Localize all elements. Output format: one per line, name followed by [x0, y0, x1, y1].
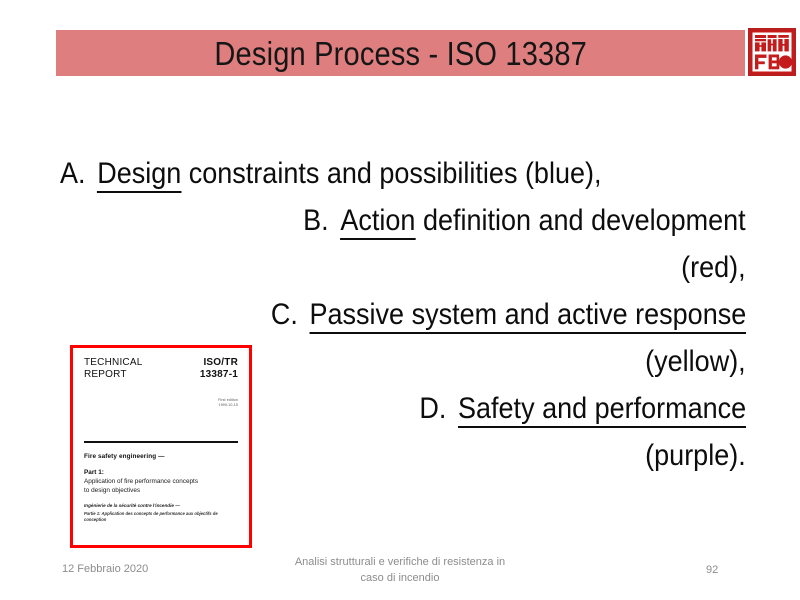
iso-doc-title: Fire safety engineering — — [84, 452, 238, 461]
iso-edition-block: First edition 1999-10-15 — [84, 398, 238, 407]
list-item: B.Action definition and development — [60, 197, 746, 244]
iso-edition-date: 1999-10-15 — [84, 403, 238, 408]
iso-standard-number: ISO/TR 13387-1 — [200, 357, 238, 381]
iso-doc-subtitle-french: Partie 1: Application des concepts de pe… — [84, 511, 238, 522]
iso-doc-type: TECHNICAL REPORT — [84, 357, 142, 381]
footer-date: 12 Febbraio 2020 — [62, 563, 148, 575]
list-item-continuation: (red), — [60, 244, 746, 291]
list-item-keyword: Design — [97, 157, 181, 193]
footer-course-line1: Analisi strutturali e verifiche di resis… — [262, 554, 538, 570]
list-marker: A. — [60, 157, 86, 190]
iso-document-cover-image: TECHNICAL REPORT ISO/TR 13387-1 First ed… — [70, 345, 252, 548]
list-marker: D. — [419, 392, 446, 425]
iso-doc-header: TECHNICAL REPORT ISO/TR 13387-1 — [84, 357, 238, 381]
iso-doc-part: Part 1: — [84, 468, 238, 477]
list-item-color-note: (yellow), — [645, 338, 746, 385]
fb-seal-logo-icon — [748, 28, 796, 76]
list-item-keyword: Action — [341, 204, 416, 240]
list-item-text: definition and development — [416, 204, 746, 237]
list-item-keyword: Passive system and active response — [309, 298, 746, 334]
footer-course-title: Analisi strutturali e verifiche di resis… — [262, 554, 538, 586]
iso-standard-code: 13387-1 — [200, 369, 238, 381]
iso-standard-prefix: ISO/TR — [200, 357, 238, 369]
iso-doc-title-french: Ingénierie de la sécurité contre l'incen… — [84, 503, 238, 509]
list-item: A.Design constraints and possibilities (… — [60, 150, 746, 197]
page-title: Design Process - ISO 13387 — [214, 37, 587, 70]
list-item-color-note: (purple). — [645, 432, 746, 479]
iso-doc-type-line2: REPORT — [84, 369, 142, 381]
iso-doc-type-line1: TECHNICAL — [84, 357, 142, 369]
list-item-text: constraints and possibilities (blue), — [181, 157, 601, 190]
list-item: C.Passive system and active response — [60, 291, 746, 338]
footer-course-line2: caso di incendio — [262, 570, 538, 586]
list-item-color-note: (red), — [681, 244, 746, 291]
list-item-keyword: Safety and performance — [458, 392, 746, 428]
iso-doc-subtitle-line2: to design objectives — [84, 486, 238, 495]
list-marker: B. — [303, 204, 329, 237]
iso-doc-subtitle-line1: Application of fire performance concepts — [84, 477, 238, 486]
list-marker: C. — [271, 298, 298, 331]
footer-page-number: 92 — [706, 564, 746, 576]
iso-divider — [84, 441, 238, 443]
slide-title-bar: Design Process - ISO 13387 — [56, 30, 745, 76]
